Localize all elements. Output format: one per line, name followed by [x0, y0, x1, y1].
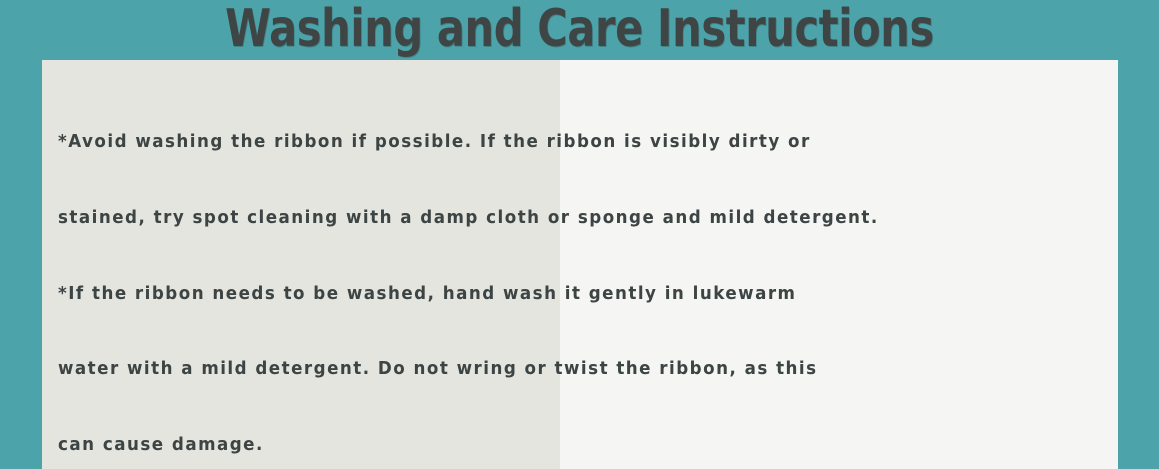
- instruction-line: can cause damage.: [58, 433, 1059, 458]
- instruction-line: stained, try spot cleaning with a damp c…: [58, 206, 1059, 231]
- instruction-line: *Avoid washing the ribbon if possible. I…: [58, 130, 1059, 155]
- instruction-line: *If the ribbon needs to be washed, hand …: [58, 282, 1059, 307]
- instructions-panel: *Avoid washing the ribbon if possible. I…: [42, 60, 1118, 469]
- instructions-text-block: *Avoid washing the ribbon if possible. I…: [58, 80, 1059, 469]
- instruction-line: water with a mild detergent. Do not wrin…: [58, 357, 1059, 382]
- poster-root: Washing and Care Instructions *Avoid was…: [0, 0, 1159, 469]
- page-title: Washing and Care Instructions: [116, 0, 1043, 60]
